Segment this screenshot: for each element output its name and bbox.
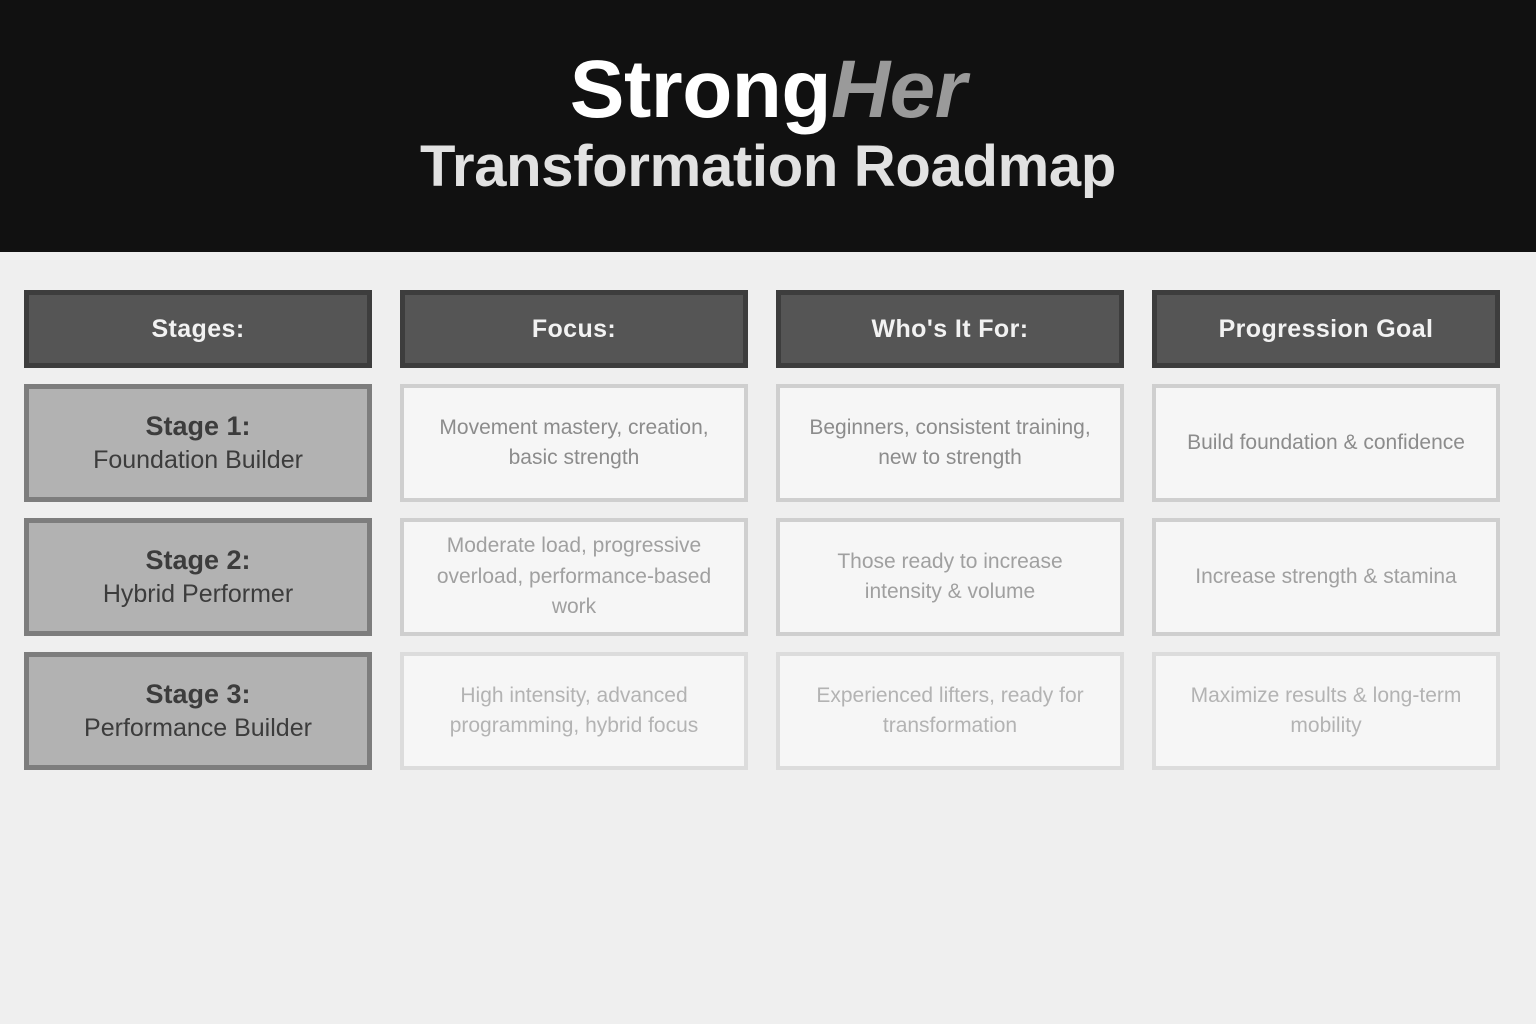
title-banner: StrongHer Transformation Roadmap — [0, 0, 1536, 252]
brand-primary-text: Strong — [570, 44, 831, 135]
brand-wordmark: StrongHer — [570, 48, 966, 132]
stage-number: Stage 2: — [145, 545, 250, 577]
cell-who-its-for-stage-3: Experienced lifters, ready for transform… — [776, 652, 1124, 770]
table-row-stage-3-label: Stage 3: Performance Builder — [24, 652, 372, 770]
stage-name: Hybrid Performer — [103, 579, 293, 609]
column-header-who-its-for: Who's It For: — [776, 290, 1124, 368]
column-header-stages: Stages: — [24, 290, 372, 368]
stage-number: Stage 1: — [145, 411, 250, 443]
cell-focus-stage-1: Movement mastery, creation, basic streng… — [400, 384, 748, 502]
table-row-stage-1-label: Stage 1: Foundation Builder — [24, 384, 372, 502]
column-header-progression-goal: Progression Goal — [1152, 290, 1500, 368]
cell-who-its-for-stage-2: Those ready to increase intensity & volu… — [776, 518, 1124, 636]
roadmap-grid: Stages: Focus: Who's It For: Progression… — [24, 290, 1512, 770]
cell-progression-goal-stage-2: Increase strength & stamina — [1152, 518, 1500, 636]
column-header-focus: Focus: — [400, 290, 748, 368]
page-subtitle: Transformation Roadmap — [420, 137, 1116, 198]
cell-focus-stage-2: Moderate load, progressive overload, per… — [400, 518, 748, 636]
stage-name: Foundation Builder — [93, 445, 303, 475]
cell-focus-stage-3: High intensity, advanced programming, hy… — [400, 652, 748, 770]
cell-progression-goal-stage-3: Maximize results & long-term mobility — [1152, 652, 1500, 770]
cell-who-its-for-stage-1: Beginners, consistent training, new to s… — [776, 384, 1124, 502]
table-row-stage-2-label: Stage 2: Hybrid Performer — [24, 518, 372, 636]
stage-name: Performance Builder — [84, 713, 312, 743]
roadmap-table: Stages: Focus: Who's It For: Progression… — [0, 252, 1536, 1024]
cell-progression-goal-stage-1: Build foundation & confidence — [1152, 384, 1500, 502]
stage-number: Stage 3: — [145, 679, 250, 711]
brand-secondary-text: Her — [831, 44, 966, 135]
